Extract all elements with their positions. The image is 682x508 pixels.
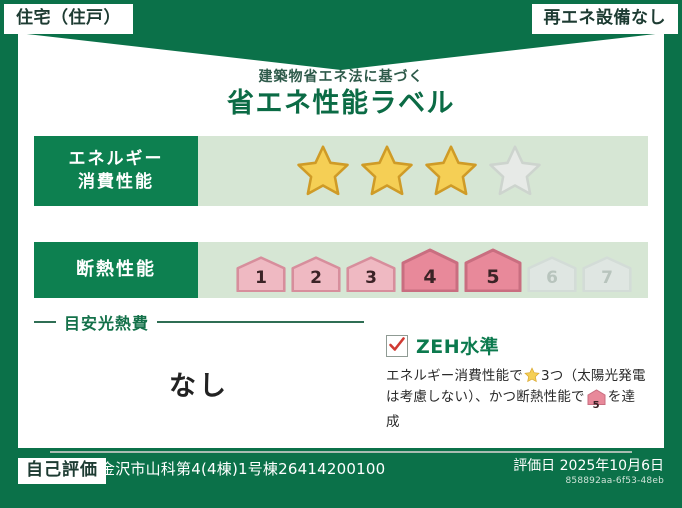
zeh-section: ZEH水準 エネルギー消費性能で 3つ（太陽光発電 は考慮しない）、かつ断熱性能… [364, 306, 648, 434]
evaluation-hash: 858892aa-6f53-48eb [565, 476, 664, 486]
star-icon-empty [486, 143, 544, 199]
insulation-level-scale: 1234567 [236, 248, 632, 292]
label-card: 建築物省エネ法に基づく 省エネ性能ラベル エネルギー 消費性能 断熱性能 123… [18, 30, 664, 448]
renewable-energy-badge: 再エネ設備なし [532, 4, 679, 34]
utility-cost-heading-text: 目安光熱費 [64, 310, 149, 334]
star-rating [294, 143, 544, 199]
insulation-level-value: 5 [464, 268, 522, 287]
insulation-performance-label-text: 断熱性能 [76, 258, 156, 282]
zeh-desc-stars: 3つ（太陽光発電 [541, 368, 646, 384]
utility-cost-value: なし [34, 364, 364, 403]
energy-performance-label-line1: エネルギー [69, 148, 164, 171]
lower-section: 目安光熱費 なし ZEH水準 エネルギー消費性能で 3つ（太陽光発電 は考慮しな… [34, 306, 648, 434]
insulation-level-badge: 6 [527, 256, 577, 292]
insulation-level-badge: 7 [582, 256, 632, 292]
card-chevron-notch [18, 30, 664, 70]
heading-rule-left [34, 321, 56, 323]
insulation-level-badge: 2 [291, 256, 341, 292]
energy-performance-row: エネルギー 消費性能 [34, 136, 648, 206]
insulation-level-value: 1 [236, 270, 286, 287]
insulation-level-inline-value: 5 [587, 401, 606, 411]
insulation-level-badge: 1 [236, 256, 286, 292]
insulation-level-value: 4 [401, 268, 459, 287]
evaluation-date: 評価日 2025年10月6日 [513, 458, 664, 475]
star-icon-filled [422, 143, 480, 199]
energy-performance-body [198, 136, 648, 206]
zeh-title: ZEH水準 [416, 332, 499, 359]
insulation-performance-row: 断熱性能 1234567 [34, 242, 648, 298]
zeh-checkbox[interactable] [386, 335, 408, 357]
zeh-heading: ZEH水準 [386, 332, 648, 359]
star-icon [524, 367, 540, 383]
title-subtitle: 建築物省エネ法に基づく [18, 70, 664, 85]
zeh-description: エネルギー消費性能で 3つ（太陽光発電 は考慮しない）、かつ断熱性能で 5 を達… [386, 366, 648, 433]
housing-type-badge: 住宅（住戸） [4, 4, 133, 34]
check-icon [388, 336, 406, 354]
utility-cost-heading: 目安光熱費 [34, 310, 364, 334]
star-icon-filled [358, 143, 416, 199]
insulation-level-value: 7 [582, 270, 632, 287]
self-evaluation-badge: 自己評価 [18, 458, 106, 484]
zeh-desc-part1: エネルギー消費性能で [386, 368, 523, 384]
insulation-level-badge: 3 [346, 256, 396, 292]
insulation-level-badge: 4 [401, 248, 459, 292]
insulation-level-value: 3 [346, 270, 396, 287]
insulation-level-value: 2 [291, 270, 341, 287]
insulation-performance-label: 断熱性能 [34, 242, 198, 298]
insulation-level-value: 6 [527, 270, 577, 287]
property-address: 金沢市山科第4(4棟)1号棟26414200100 [100, 462, 385, 477]
insulation-level-inline-badge: 5 [587, 389, 606, 412]
footer: 自己評価 金沢市山科第4(4棟)1号棟26414200100 評価日 2025年… [0, 448, 682, 508]
heading-rule-right [157, 321, 364, 323]
insulation-level-badge: 5 [464, 248, 522, 292]
star-icon-filled [294, 143, 352, 199]
energy-performance-label-line2: 消費性能 [78, 171, 154, 194]
page-title: 省エネ性能ラベル [18, 87, 664, 121]
utility-cost-section: 目安光熱費 なし [34, 306, 364, 434]
title-block: 建築物省エネ法に基づく 省エネ性能ラベル [18, 70, 664, 121]
energy-performance-label: エネルギー 消費性能 [34, 136, 198, 206]
insulation-performance-body: 1234567 [198, 242, 648, 298]
zeh-desc-part2: は考慮しない）、かつ断熱性能で [386, 389, 585, 405]
